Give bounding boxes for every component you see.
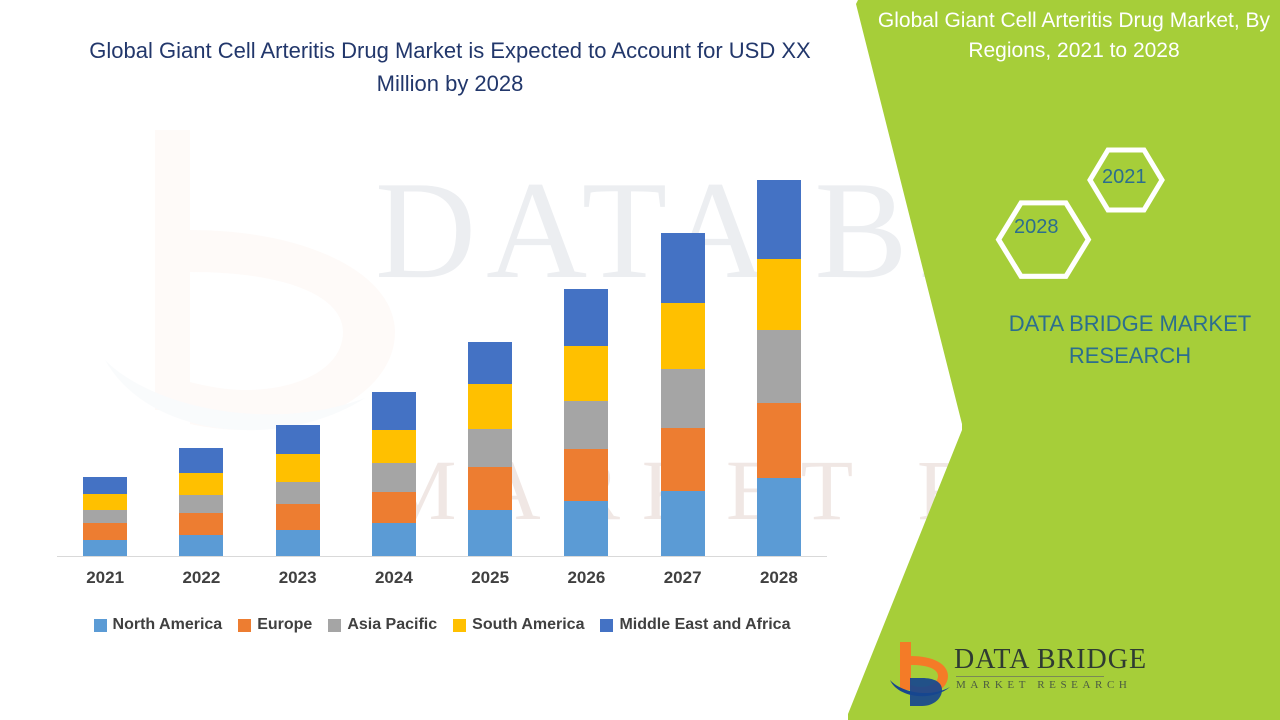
bar-segment [468,429,512,468]
bar-segment [757,180,801,259]
data-bridge-b-logo-icon [888,640,952,706]
x-axis-label: 2028 [733,568,825,588]
bar-group [468,342,512,557]
x-axis-label: 2022 [155,568,247,588]
x-axis-label: 2021 [59,568,151,588]
bar-segment [468,342,512,384]
bar-segment [661,303,705,369]
bar-segment [179,535,223,557]
bar-segment [757,259,801,330]
bar-segment [276,425,320,455]
bar-segment [757,478,801,557]
stacked-bar-chart-plot [57,150,827,557]
bar-group [83,477,127,557]
bar-segment [468,510,512,557]
bar-segment [661,233,705,302]
bar-segment [179,473,223,495]
legend-label: Asia Pacific [347,616,437,634]
hexagon-shapes-icon [980,128,1190,298]
logo-main-text: DATA BRIDGE [954,644,1147,676]
panel-title: Global Giant Cell Arteritis Drug Market,… [876,6,1272,66]
bar-segment [83,477,127,494]
bar-segment [468,467,512,510]
x-axis-label: 2026 [540,568,632,588]
bar-segment [661,369,705,428]
bar-segment [564,449,608,501]
bar-segment [372,523,416,557]
bar-segment [372,430,416,464]
x-axis-line [57,556,827,557]
x-axis-label: 2025 [444,568,536,588]
data-bridge-logo: DATA BRIDGE MARKET RESEARCH [888,636,1118,708]
legend-swatch-icon [600,619,613,632]
bar-segment [661,428,705,491]
hexagon-label-2028: 2028 [1014,216,1059,239]
bar-segment [83,523,127,539]
bar-segment [179,495,223,513]
bar-group [661,233,705,557]
legend-item[interactable]: Europe [238,616,312,634]
legend-swatch-icon [238,619,251,632]
bar-segment [372,392,416,430]
bar-segment [276,454,320,481]
bar-segment [564,501,608,557]
logo-divider [956,676,1104,677]
legend-swatch-icon [328,619,341,632]
logo-sub-text: MARKET RESEARCH [956,679,1131,691]
legend-label: Europe [257,616,312,634]
bar-segment [564,401,608,449]
bar-segment [276,504,320,529]
bar-segment [179,448,223,472]
legend-swatch-icon [94,619,107,632]
slide-canvas: DATA BRIDGE MARKET RESEARCH Global Giant… [0,0,1280,720]
bar-group [179,448,223,557]
bar-segment [661,491,705,557]
chart-legend: North AmericaEuropeAsia PacificSouth Ame… [57,616,827,634]
legend-item[interactable]: Asia Pacific [328,616,437,634]
bar-segment [83,510,127,523]
legend-swatch-icon [453,619,466,632]
bar-segment [757,403,801,477]
bar-segment [276,482,320,504]
bar-segment [564,289,608,346]
legend-item[interactable]: North America [94,616,223,634]
bar-segment [372,492,416,524]
legend-label: Middle East and Africa [619,616,790,634]
legend-label: North America [113,616,223,634]
bar-group [564,289,608,557]
hexagon-label-2021: 2021 [1102,166,1147,189]
bar-segment [83,540,127,557]
bar-segment [757,330,801,403]
legend-item[interactable]: Middle East and Africa [600,616,790,634]
brand-name: DATA BRIDGE MARKET RESEARCH [990,308,1270,372]
bar-group [276,425,320,557]
bar-segment [276,530,320,557]
bar-segment [83,494,127,510]
chart-title: Global Giant Cell Arteritis Drug Market … [70,34,830,100]
bar-segment [468,384,512,429]
legend-item[interactable]: South America [453,616,584,634]
x-axis-label: 2023 [252,568,344,588]
bar-segment [564,346,608,401]
bar-group [757,180,801,557]
x-axis-label: 2024 [348,568,440,588]
x-axis-label: 2027 [637,568,729,588]
bar-group [372,392,416,557]
hexagon-group: 2028 2021 [980,128,1190,298]
x-axis-tick-labels: 20212022202320242025202620272028 [57,568,827,598]
legend-label: South America [472,616,584,634]
bar-segment [179,513,223,534]
bar-segment [372,463,416,491]
